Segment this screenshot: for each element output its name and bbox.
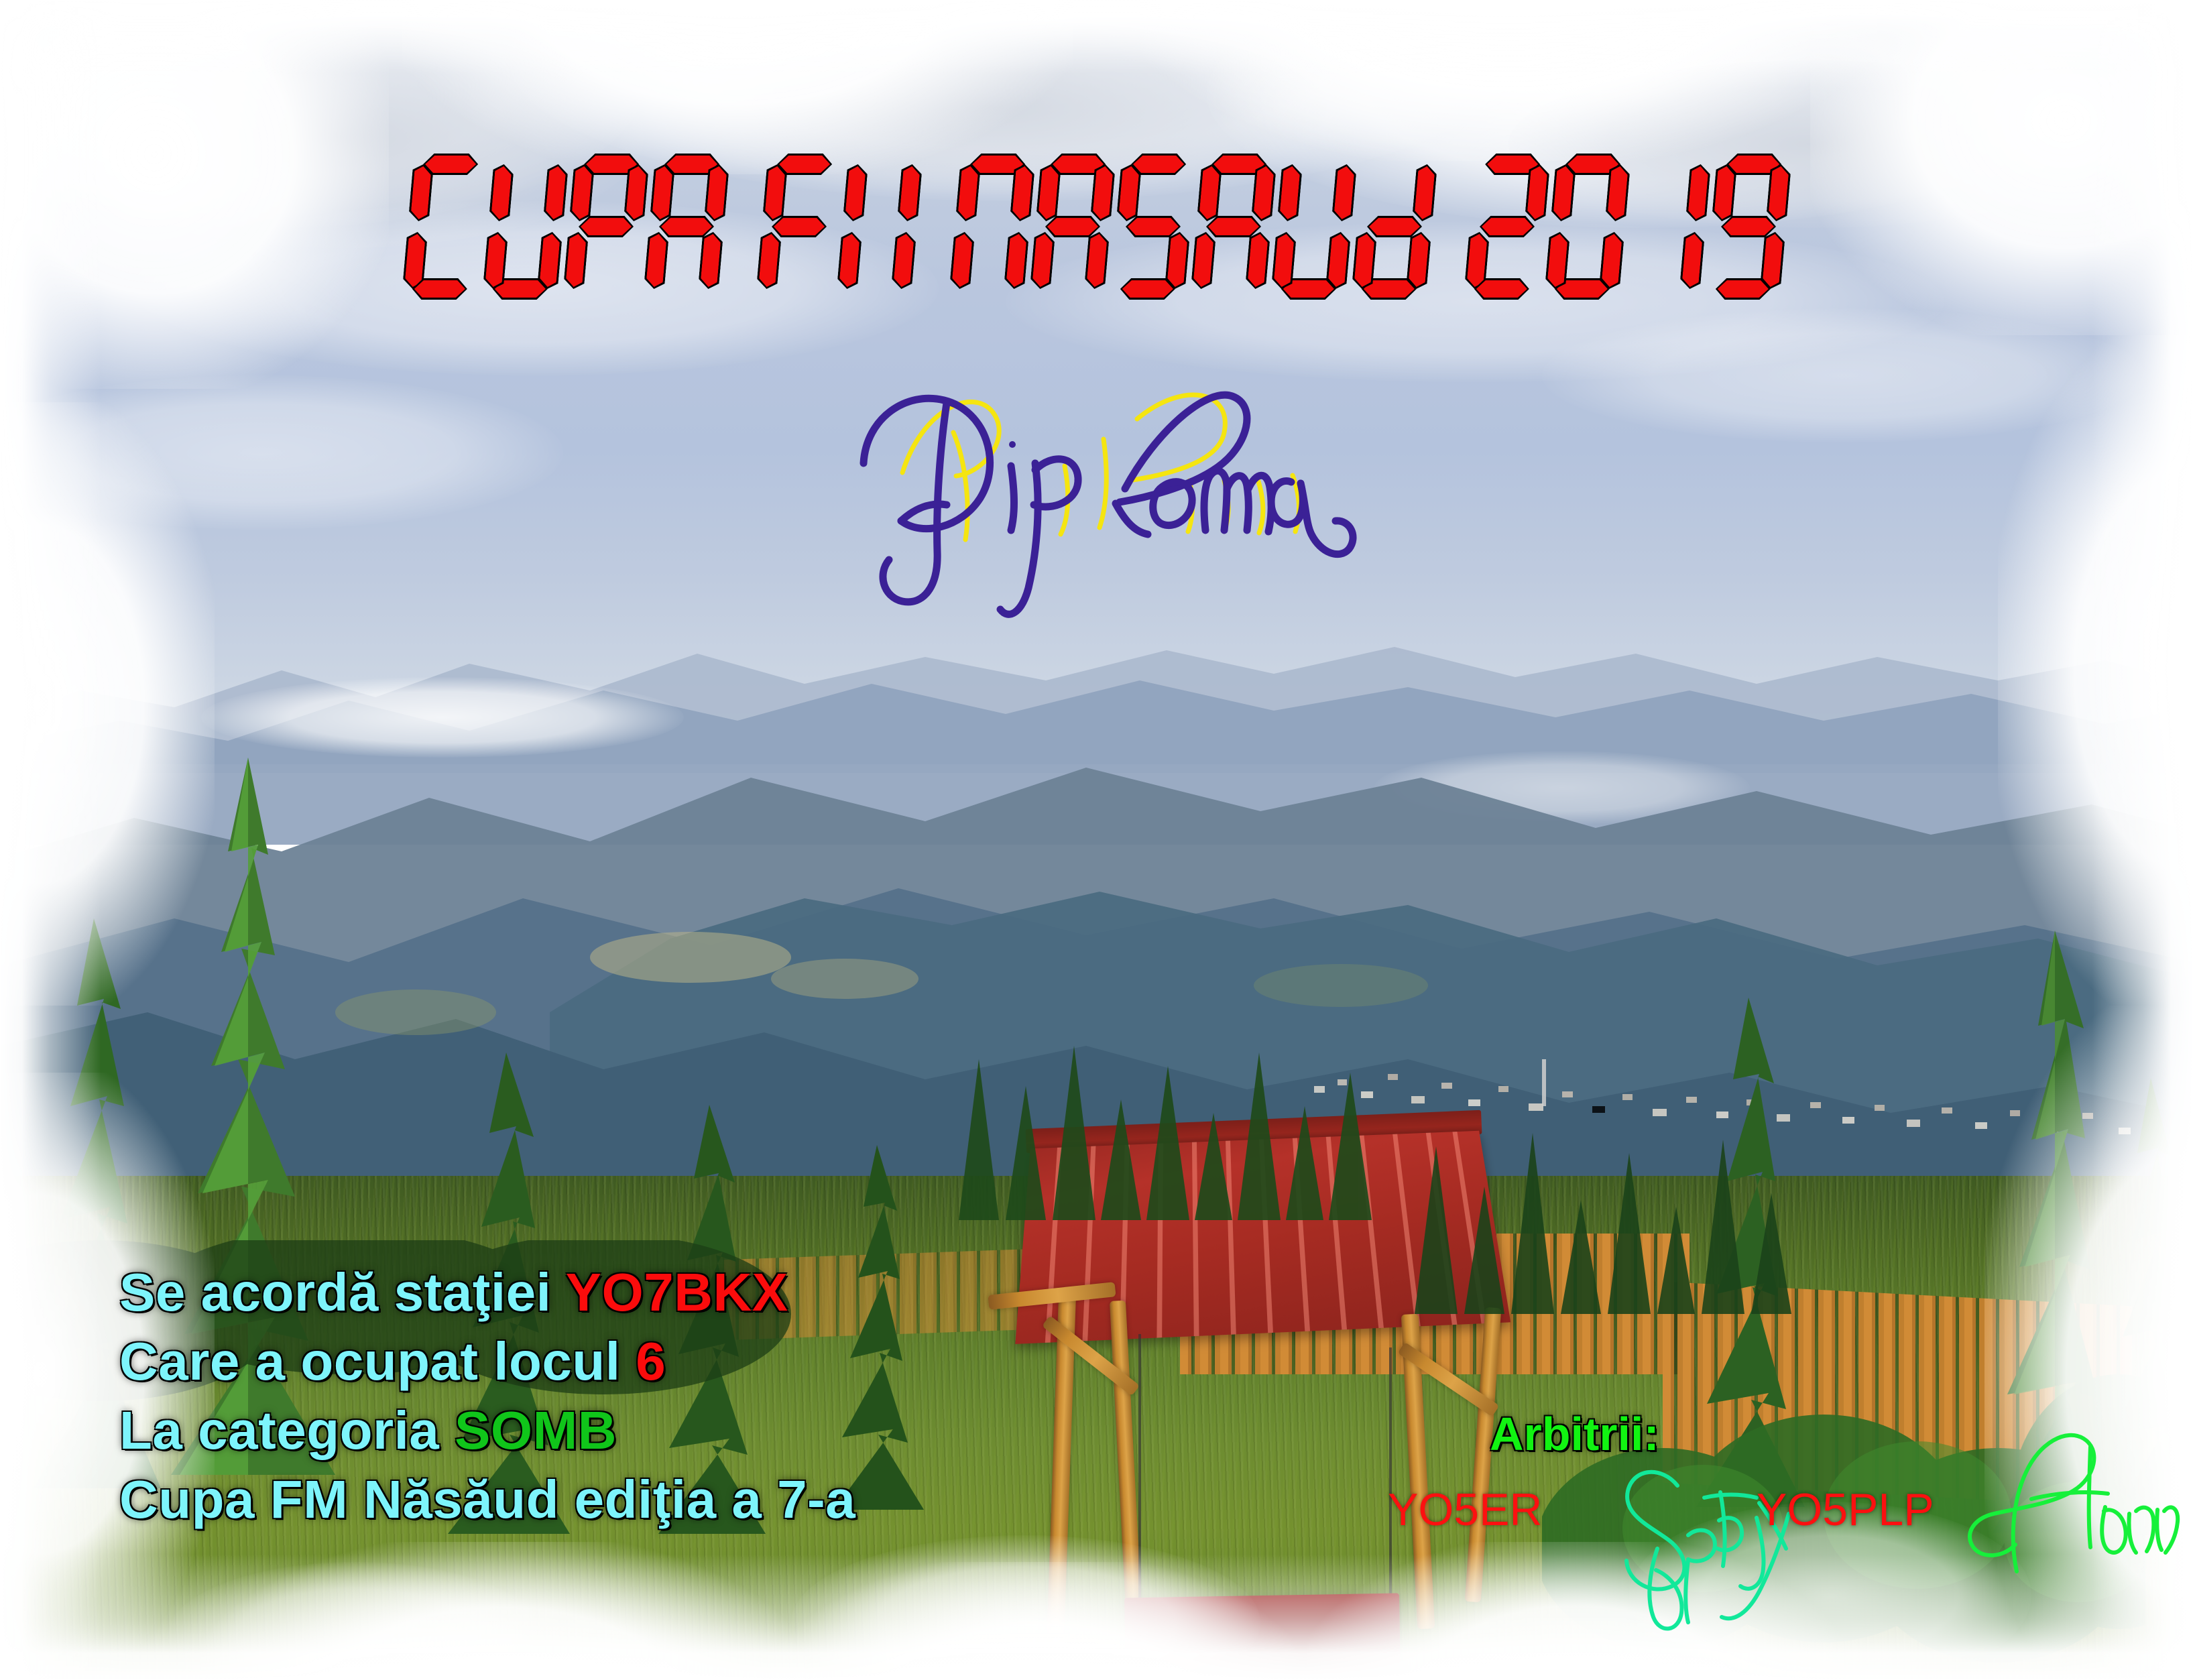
award-line-place-prefix: Care a ocupat locul — [119, 1331, 636, 1391]
referee-entry: YO5PLP — [1757, 1486, 1934, 1534]
award-line-event-text: Cupa FM Năsăud ediţia a 7-a — [119, 1469, 855, 1529]
award-line-event: Cupa FM Năsăud ediţia a 7-a — [119, 1465, 855, 1534]
swing-seat — [1124, 1593, 1401, 1678]
award-line-station-prefix: Se acordă staţiei — [119, 1262, 566, 1322]
award-line-category: La categoria SOMB — [119, 1396, 855, 1465]
station-callsign: YO7BKX — [566, 1262, 788, 1322]
referees-label: Arbitrii: — [1490, 1406, 1659, 1461]
place-number: 6 — [636, 1331, 666, 1391]
award-line-place: Care a ocupat locul 6 — [119, 1327, 855, 1396]
referees-block: Arbitrii: YO5ER YO5 — [1490, 1406, 1659, 1461]
category-code: SOMB — [455, 1400, 617, 1460]
background-conifers — [1395, 1099, 1824, 1327]
background-conifers — [932, 1019, 1401, 1234]
referee-callsign: YO5PLP — [1757, 1486, 1934, 1534]
referee-entry: YO5ER — [1388, 1486, 1543, 1534]
award-line-station: Se acordă staţiei YO7BKX — [119, 1258, 855, 1327]
award-line-category-prefix: La categoria — [119, 1400, 455, 1460]
diploma-certificate: Se acordă staţiei YO7BKX Care a ocupat l… — [0, 0, 2193, 1680]
award-text-block: Se acordă staţiei YO7BKX Care a ocupat l… — [119, 1258, 855, 1534]
referee-callsign: YO5ER — [1388, 1486, 1543, 1534]
